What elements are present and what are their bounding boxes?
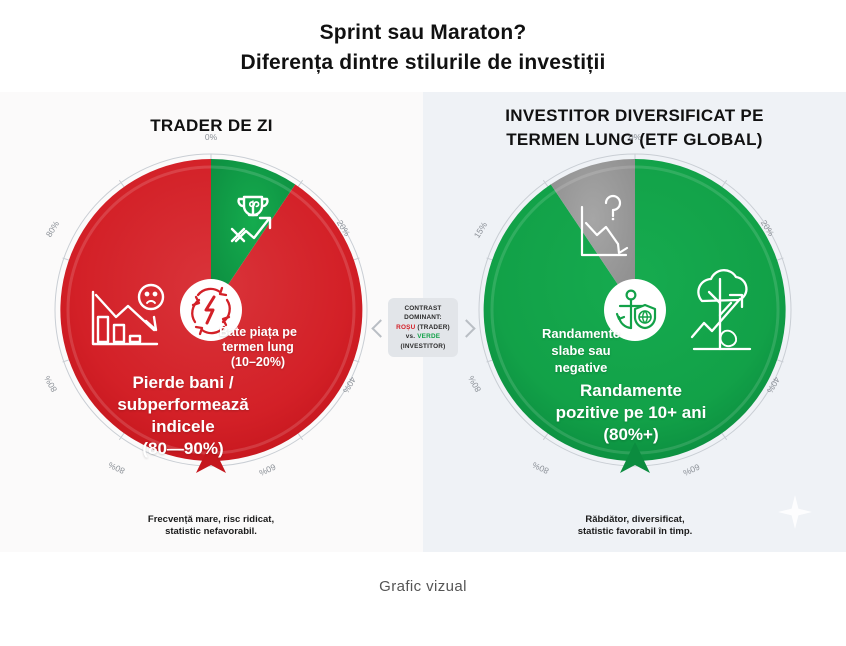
footnote-investitor-line-2: statistic favorabil în timp. [470,526,800,538]
infographic-canvas: Sprint sau Maraton? Diferența dintre sti… [0,0,846,646]
contrast-badge-red-row: ROȘU (TRADER) [392,323,454,332]
footnote-investitor: Răbdător, diversificat, statistic favora… [470,514,800,538]
contrast-badge-green-row: vs. VERDE [392,332,454,341]
contrast-badge: CONTRAST DOMINANT: ROȘU (TRADER) vs. VER… [388,298,458,357]
contrast-badge-red-word: ROȘU [396,324,415,331]
tick-label-0: 0% [191,132,231,142]
contrast-badge-green-word: VERDE [417,333,440,340]
footnote-investitor-line-1: Răbdător, diversificat, [470,514,800,526]
contrast-badge-red-tail: (TRADER) [417,324,449,331]
tick-label-0: 0% [615,132,655,142]
hub-investitor [604,279,666,341]
footnote-trader: Frecvență mare, risc ridicat, statistic … [46,514,376,538]
footnote-trader-line-1: Frecvență mare, risc ridicat, [46,514,376,526]
panel-investitor-title-line-1: INVESTITOR DIVERSIFICAT PE [423,104,846,128]
contrast-badge-line-1: CONTRAST [392,304,454,313]
title-line-2: Diferența dintre stilurile de investiții [0,48,846,78]
panel-investitor: INVESTITOR DIVERSIFICAT PE TERMEN LUNG (… [423,92,846,552]
title-line-1: Sprint sau Maraton? [0,18,846,48]
caption: Grafic vizual [0,578,846,595]
hub-trader [180,279,242,341]
footnote-trader-line-2: statistic nefavorabil. [46,526,376,538]
gauge-trader: 0% 20% 40% 60% 80% 80% 80% [46,145,376,475]
contrast-badge-line-2: DOMINANT: [392,313,454,322]
panel-trader: TRADER DE ZI [0,92,423,552]
contrast-badge-green-tail: (INVESTITOR) [392,342,454,351]
contrast-badge-vs: vs. [406,333,415,340]
gauge-investitor: 0% 20% 40% 60% 80% 80% 15% [470,145,800,475]
page-title: Sprint sau Maraton? Diferența dintre sti… [0,18,846,78]
